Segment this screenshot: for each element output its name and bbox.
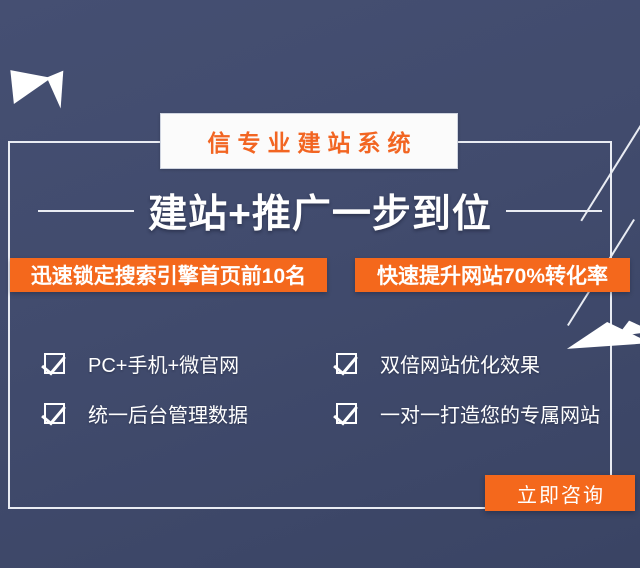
consult-now-button[interactable]: 立即咨询	[485, 475, 635, 511]
feature-item-multi-platform: PC+手机+微官网	[44, 349, 336, 378]
headline-rule-right	[506, 210, 602, 212]
checkbox-checked-icon	[336, 350, 362, 376]
feature-item-unified-backend: 统一后台管理数据	[44, 399, 336, 428]
promo-banner: 信专业建站系统 建站+推广一步到位 迅速锁定搜索引擎首页前10名 快速提升网站7…	[0, 0, 640, 568]
feature-label: PC+手机+微官网	[88, 349, 239, 378]
feature-list: PC+手机+微官网 双倍网站优化效果 统一后台管理数据 一对一打造您的专属网站	[44, 338, 614, 438]
tagline-box: 信专业建站系统	[160, 113, 458, 169]
highlight-badge-seo: 迅速锁定搜索引擎首页前10名	[10, 258, 327, 292]
paper-plane-icon	[10, 66, 53, 104]
checkbox-checked-icon	[44, 350, 70, 376]
checkbox-checked-icon	[336, 400, 362, 426]
feature-label: 统一后台管理数据	[88, 399, 248, 428]
headline-row: 建站+推广一步到位	[0, 180, 640, 242]
mountain-triangle-small-icon	[615, 318, 640, 337]
page-title: 建站+推广一步到位	[148, 183, 492, 239]
tagline-text: 信专业建站系统	[201, 124, 418, 158]
feature-label: 一对一打造您的专属网站	[380, 399, 600, 428]
checkbox-checked-icon	[44, 400, 70, 426]
headline-rule-left	[38, 210, 134, 212]
feature-label: 双倍网站优化效果	[380, 349, 540, 378]
paper-plane-icon-wing	[45, 69, 64, 108]
highlight-badge-conversion: 快速提升网站70%转化率	[355, 258, 630, 292]
feature-item-dedicated-site: 一对一打造您的专属网站	[336, 399, 614, 428]
feature-item-double-optimization: 双倍网站优化效果	[336, 349, 614, 378]
